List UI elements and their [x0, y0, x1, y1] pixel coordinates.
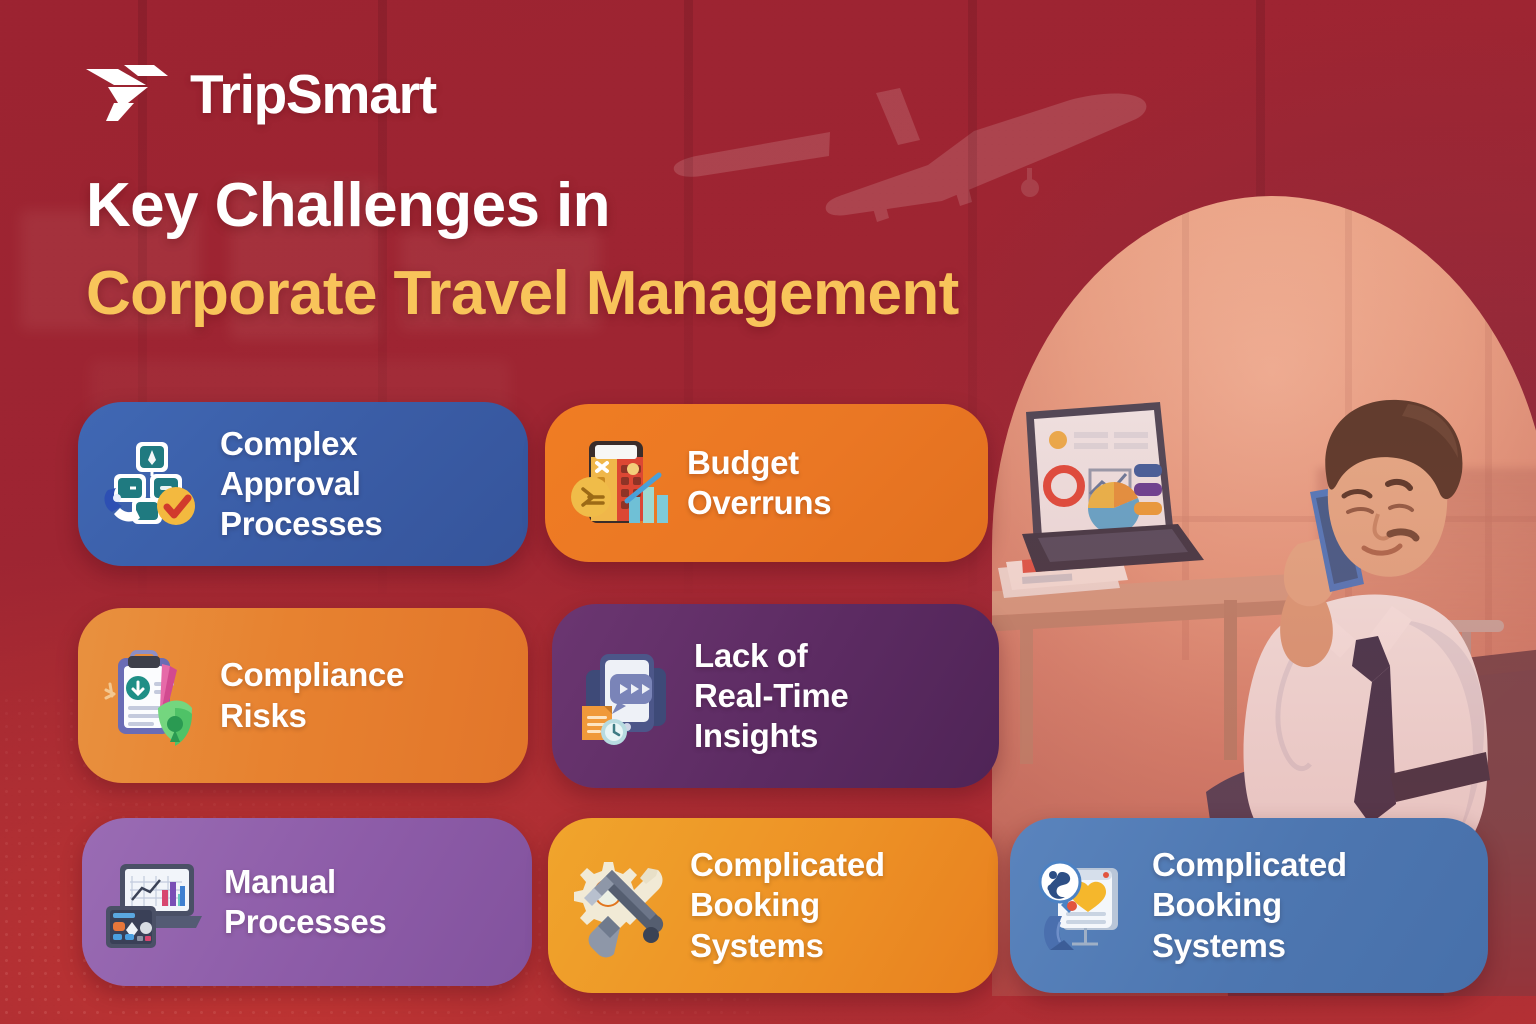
approval-workflow-check-icon	[100, 432, 204, 536]
challenge-card-label: Budget Overruns	[687, 443, 831, 524]
clipboard-shield-icon	[100, 644, 204, 748]
challenge-card-compliance-risks[interactable]: Compliance Risks	[78, 608, 528, 783]
challenge-card-label: Complex Approval Processes	[220, 424, 382, 545]
challenge-card-label: Complicated Booking Systems	[690, 845, 885, 966]
brand-logo[interactable]: TripSmart	[84, 62, 436, 126]
challenge-card-complicated-booking-systems-tools[interactable]: Complicated Booking Systems	[548, 818, 998, 993]
challenge-card-label: Compliance Risks	[220, 655, 404, 736]
tablet-chat-clock-icon	[574, 644, 678, 748]
airplane-chevron-icon	[84, 63, 170, 125]
challenge-card-label: Manual Processes	[224, 862, 386, 943]
headline-line-2: Corporate Travel Management	[86, 261, 959, 327]
headline-line-1: Key Challenges in	[86, 173, 959, 239]
challenge-card-complicated-booking-systems-browser[interactable]: Complicated Booking Systems	[1010, 818, 1488, 993]
browser-search-heart-icon	[1032, 854, 1136, 958]
gear-wrench-icon	[570, 854, 674, 958]
brand-name: TripSmart	[190, 62, 436, 126]
laptop-dashboard-icon	[104, 850, 208, 954]
calculator-chart-icon	[567, 431, 671, 535]
page-title: Key Challenges in Corporate Travel Manag…	[86, 173, 959, 326]
challenge-card-grid: Complex Approval Processes	[0, 0, 1536, 1024]
challenge-card-budget-overruns[interactable]: Budget Overruns	[545, 404, 988, 562]
challenge-card-lack-of-real-time-insights[interactable]: Lack of Real-Time Insights	[552, 604, 999, 788]
challenge-card-label: Complicated Booking Systems	[1152, 845, 1347, 966]
challenge-card-complex-approval-processes[interactable]: Complex Approval Processes	[78, 402, 528, 566]
challenge-card-manual-processes[interactable]: Manual Processes	[82, 818, 532, 986]
challenge-card-label: Lack of Real-Time Insights	[694, 636, 848, 757]
